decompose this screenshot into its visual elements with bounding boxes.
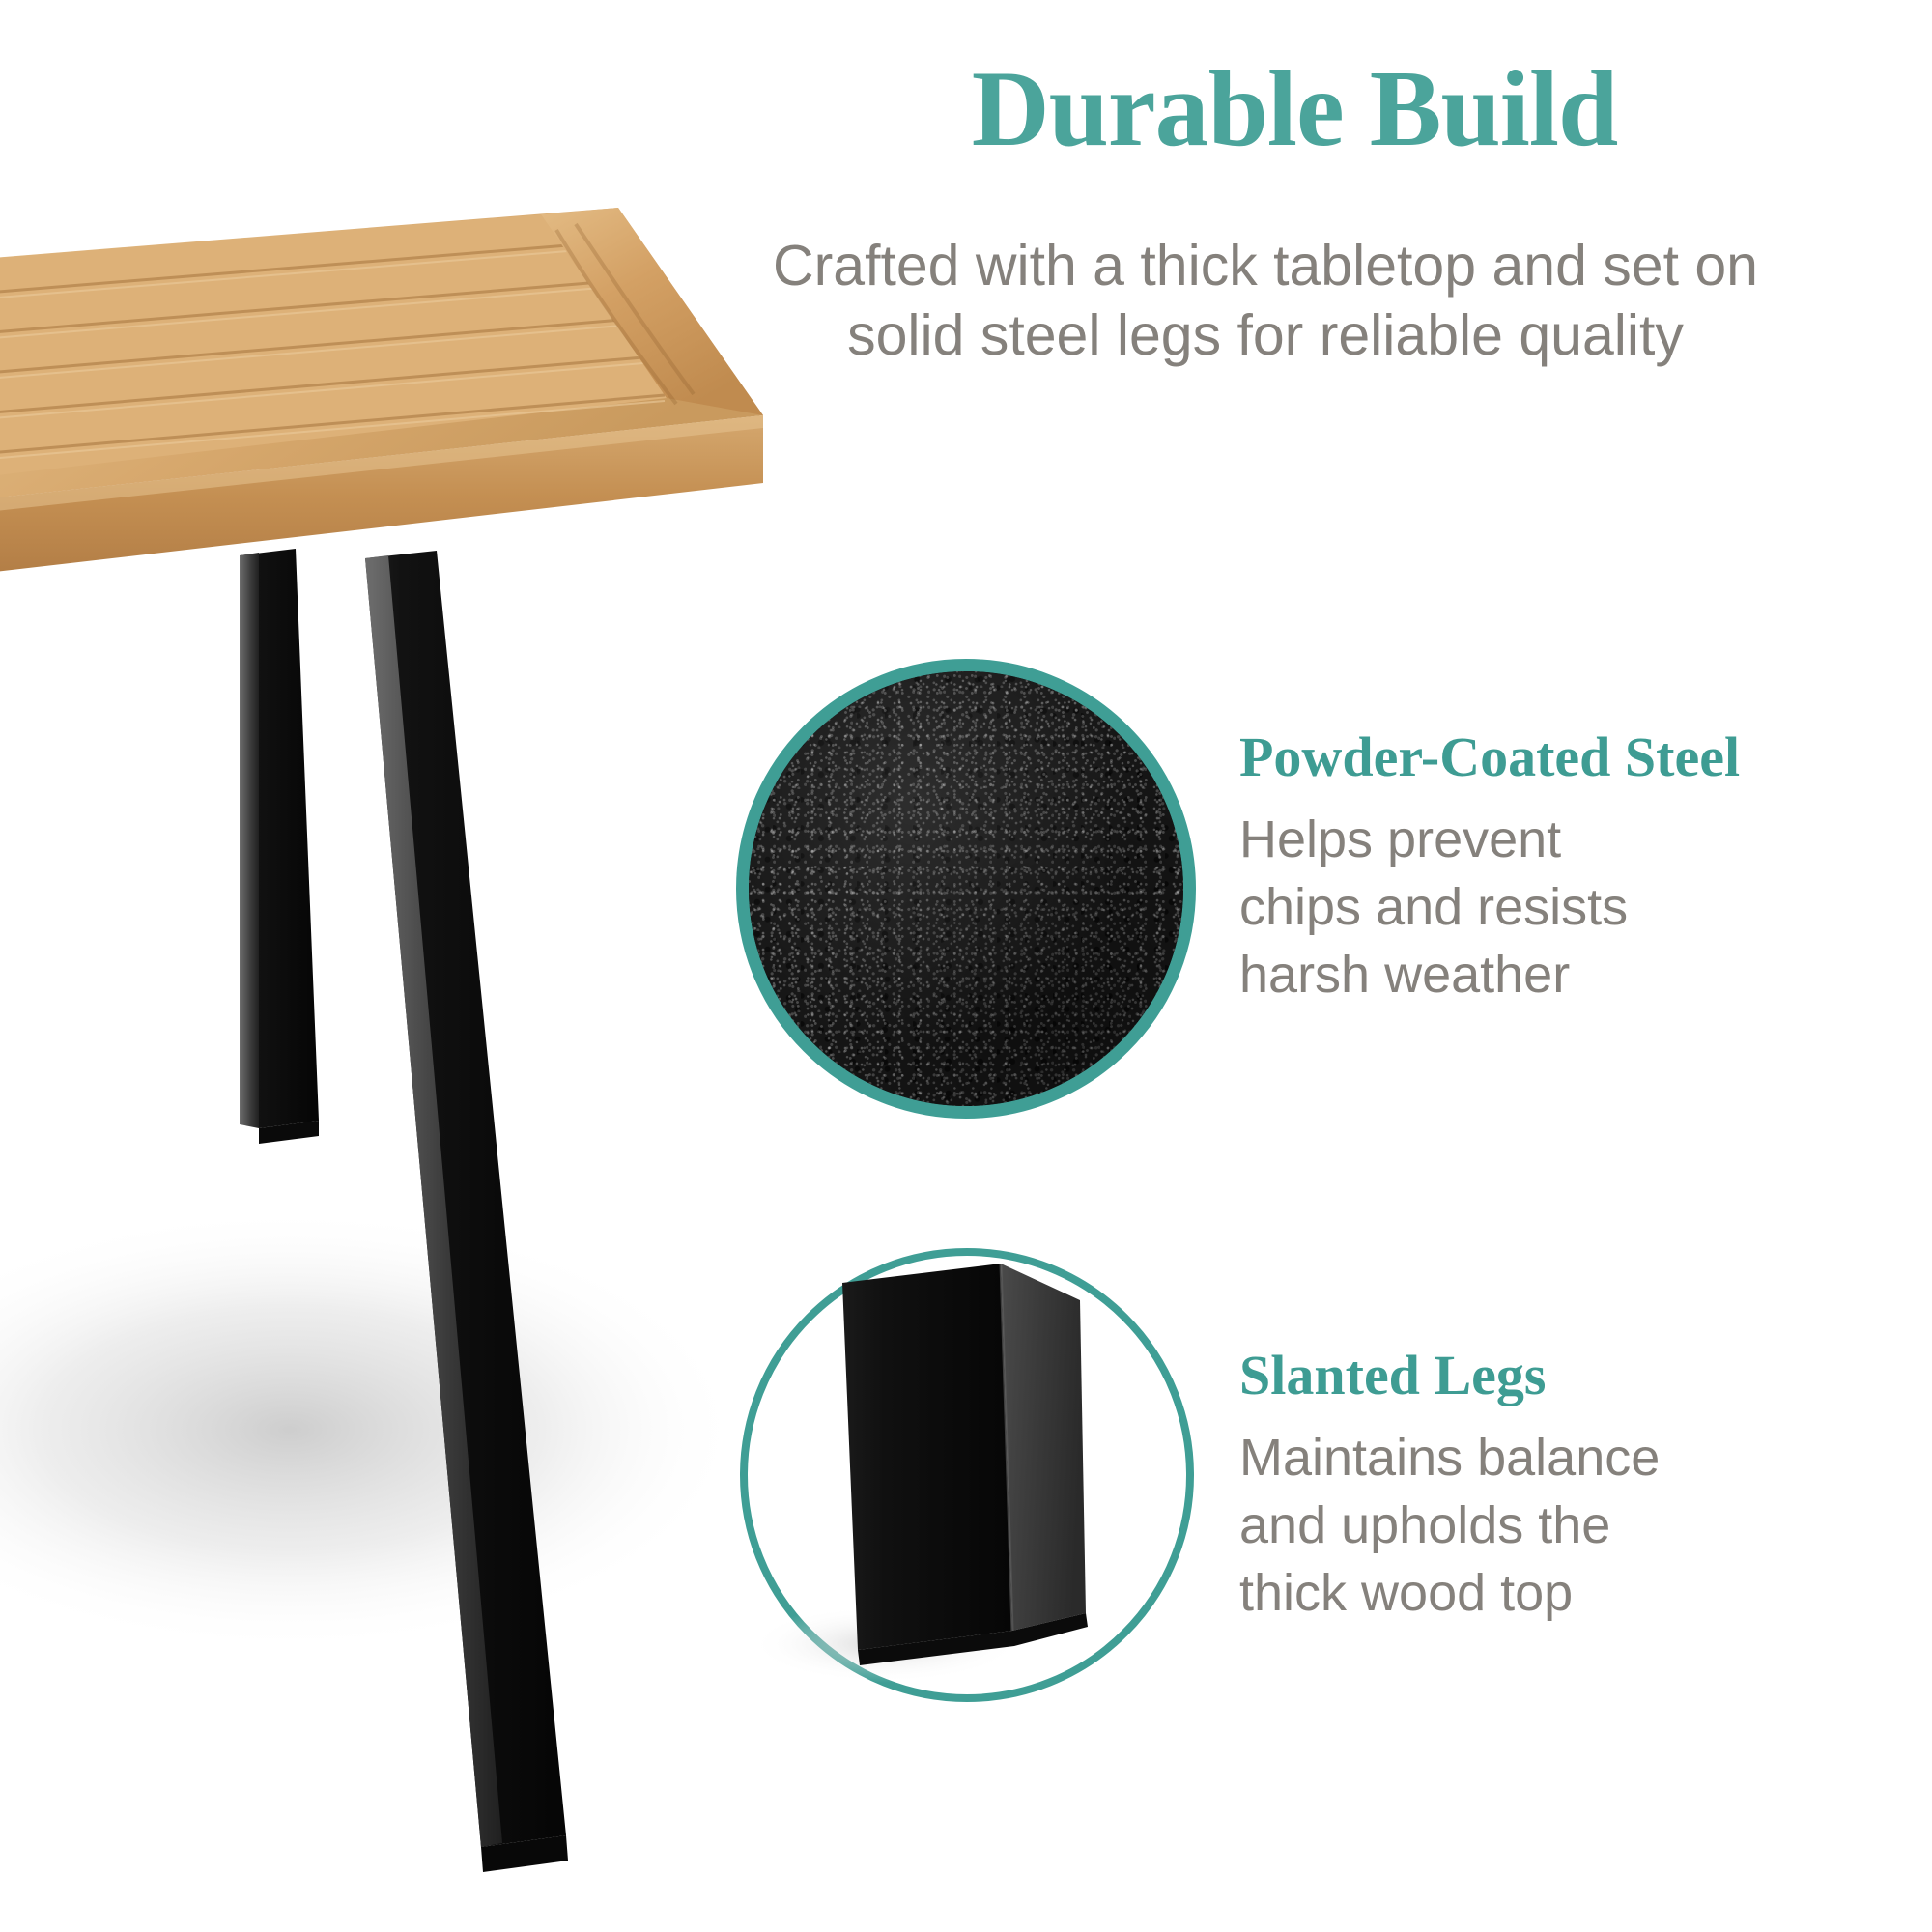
feature-slanted-legs: Slanted Legs Maintains balance and uphol… — [1239, 1345, 1932, 1627]
feature-body-powder-coated-steel: Helps prevent chips and resists harsh we… — [1239, 806, 1932, 1009]
feature-body-slanted-legs: Maintains balance and upholds the thick … — [1239, 1424, 1932, 1628]
feature-1-body-line-3: harsh weather — [1239, 941, 1932, 1009]
texture-sheen — [749, 671, 1183, 1106]
feature-1-body-line-1: Helps prevent — [1239, 806, 1932, 873]
table-leg-rear — [240, 549, 319, 1144]
powder-coat-texture-callout — [736, 659, 1196, 1119]
feature-powder-coated-steel: Powder-Coated Steel Helps prevent chips … — [1239, 726, 1932, 1009]
feature-title-slanted-legs: Slanted Legs — [1239, 1345, 1932, 1406]
floor-shadow — [0, 1207, 744, 1652]
subtitle-line-2: solid steel legs for reliable quality — [618, 301, 1913, 371]
feature-2-body-line-3: thick wood top — [1239, 1559, 1932, 1627]
subtitle-line-1: Crafted with a thick tabletop and set on — [618, 232, 1913, 301]
page-title: Durable Build — [676, 53, 1913, 167]
infographic-canvas: Durable Build Crafted with a thick table… — [0, 0, 1932, 1932]
feature-2-body-line-1: Maintains balance — [1239, 1424, 1932, 1492]
page-subtitle: Crafted with a thick tabletop and set on… — [618, 232, 1913, 371]
slanted-leg-callout-ring — [740, 1248, 1194, 1702]
table-leg-front — [365, 551, 568, 1872]
feature-title-powder-coated-steel: Powder-Coated Steel — [1239, 726, 1932, 788]
feature-2-body-line-2: and upholds the — [1239, 1492, 1932, 1559]
feature-1-body-line-2: chips and resists — [1239, 873, 1932, 941]
